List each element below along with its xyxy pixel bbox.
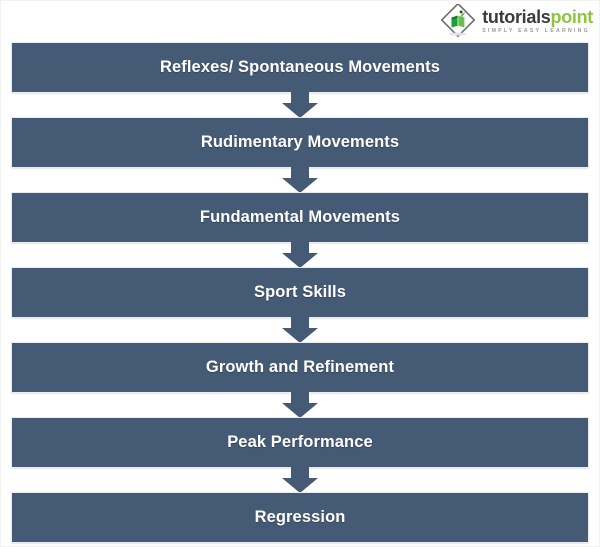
down-arrow-icon bbox=[282, 317, 318, 343]
down-arrow-icon bbox=[282, 467, 318, 493]
flow-node-2: Rudimentary Movements bbox=[11, 117, 589, 168]
flow-node-1: Reflexes/ Spontaneous Movements bbox=[11, 42, 589, 93]
down-arrow-icon bbox=[282, 242, 318, 268]
logo-text-block: tutorialspoint SIMPLY EASY LEARNING bbox=[482, 8, 593, 34]
flow-connector-1 bbox=[11, 93, 589, 117]
flow-node-7: Regression bbox=[11, 492, 589, 543]
flow-node-5: Growth and Refinement bbox=[11, 342, 589, 393]
down-arrow-icon bbox=[282, 92, 318, 118]
logo-wordmark: tutorialspoint bbox=[482, 8, 593, 26]
flow-connector-2 bbox=[11, 168, 589, 192]
flowchart-page: tutorialspoint SIMPLY EASY LEARNING Refl… bbox=[0, 0, 600, 547]
flow-connector-5 bbox=[11, 393, 589, 417]
flow-node-label: Fundamental Movements bbox=[200, 208, 400, 227]
logo-word-point: point bbox=[551, 7, 593, 27]
down-arrow-icon bbox=[282, 167, 318, 193]
flow-node-label: Peak Performance bbox=[227, 433, 373, 452]
flow-node-label: Reflexes/ Spontaneous Movements bbox=[160, 58, 440, 77]
flow-connector-4 bbox=[11, 318, 589, 342]
down-arrow-icon bbox=[282, 392, 318, 418]
logo-word-tutorials: tutorials bbox=[482, 7, 550, 27]
flow-node-label: Growth and Refinement bbox=[206, 358, 394, 377]
flow-node-label: Rudimentary Movements bbox=[201, 133, 399, 152]
flow-node-6: Peak Performance bbox=[11, 417, 589, 468]
flow-node-label: Regression bbox=[255, 508, 346, 527]
tutorialspoint-diamond-logo-icon bbox=[440, 4, 476, 38]
flow-node-label: Sport Skills bbox=[254, 283, 346, 302]
logo-tagline: SIMPLY EASY LEARNING bbox=[482, 29, 593, 34]
tutorialspoint-logo: tutorialspoint SIMPLY EASY LEARNING bbox=[440, 3, 593, 39]
flow-connector-3 bbox=[11, 243, 589, 267]
flow-node-3: Fundamental Movements bbox=[11, 192, 589, 243]
flow-node-4: Sport Skills bbox=[11, 267, 589, 318]
flow-connector-6 bbox=[11, 468, 589, 492]
flowchart-container: Reflexes/ Spontaneous Movements Rudiment… bbox=[11, 42, 589, 543]
